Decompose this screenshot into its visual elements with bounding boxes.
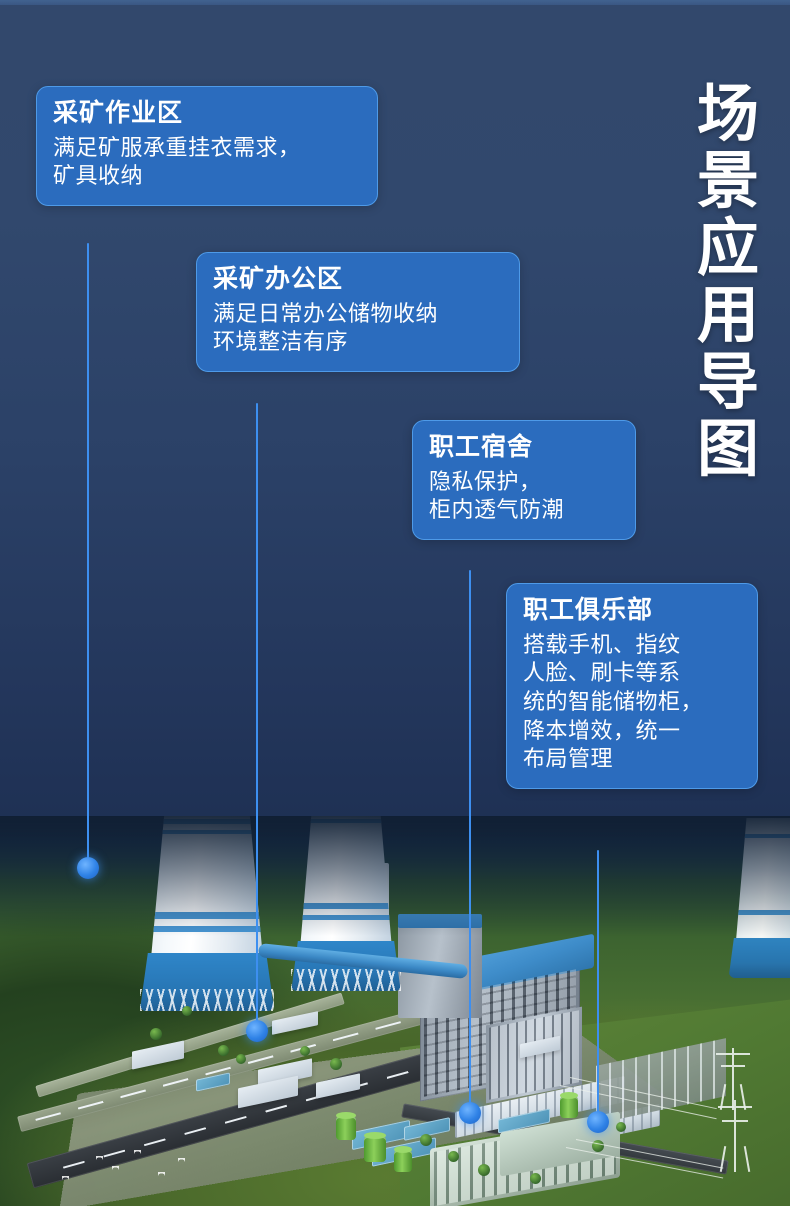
cooling-tower-3	[734, 818, 790, 978]
bird	[134, 1150, 141, 1154]
top-accent-strip	[0, 0, 790, 5]
transmission-pylon-2	[718, 1048, 748, 1110]
info-card-staff-club[interactable]: 职工俱乐部 搭载手机、指纹 人脸、刷卡等系 统的智能储物柜， 降本增效，统一 布…	[506, 583, 758, 789]
card-body: 隐私保护， 柜内透气防潮	[429, 468, 619, 525]
connector-line-staff-dormitory	[469, 570, 471, 1113]
connector-dot-staff-dormitory	[459, 1102, 481, 1124]
connector-dot-mining-office-area	[246, 1020, 268, 1042]
card-title: 职工俱乐部	[523, 596, 741, 625]
tree	[478, 1164, 490, 1176]
storage-tank-3	[394, 1150, 412, 1172]
page-title-char: 用	[690, 283, 768, 350]
tree	[420, 1134, 432, 1146]
bird	[158, 1172, 165, 1176]
page-title-char: 应	[690, 216, 768, 283]
connector-dot-mining-work-area	[77, 857, 99, 879]
transmission-pylon-1	[718, 1100, 752, 1172]
storage-tank-2	[364, 1136, 386, 1162]
tree	[182, 1006, 192, 1016]
connector-line-mining-work-area	[87, 243, 89, 868]
tree	[218, 1045, 229, 1056]
bird	[112, 1166, 119, 1170]
connector-line-staff-club	[597, 850, 599, 1122]
page-title-vertical: 场 景 应 用 导 图	[690, 82, 768, 484]
info-card-mining-work-area[interactable]: 采矿作业区 满足矿服承重挂衣需求， 矿具收纳	[36, 86, 378, 206]
power-plant-scene	[0, 816, 790, 1206]
connector-dot-staff-club	[587, 1111, 609, 1133]
page-title-char: 场	[690, 82, 768, 149]
cooling-tower-1	[148, 816, 266, 1011]
cooling-tower-3-base	[729, 938, 790, 978]
cooling-tower-2-legs	[291, 969, 400, 991]
card-title: 采矿办公区	[213, 265, 503, 294]
bird	[96, 1156, 103, 1160]
card-body: 搭载手机、指纹 人脸、刷卡等系 统的智能储物柜， 降本增效，统一 布局管理	[523, 631, 741, 774]
connector-line-mining-office-area	[256, 403, 258, 1031]
tree	[236, 1054, 246, 1064]
tree	[150, 1028, 162, 1040]
bird	[178, 1158, 185, 1162]
poster-canvas: 采矿作业区 满足矿服承重挂衣需求， 矿具收纳 采矿办公区 满足日常办公储物收纳 …	[0, 0, 790, 1206]
info-card-staff-dormitory[interactable]: 职工宿舍 隐私保护， 柜内透气防潮	[412, 420, 636, 540]
bird	[62, 1176, 69, 1180]
storage-tank-4	[560, 1096, 578, 1118]
card-body: 满足日常办公储物收纳 环境整洁有序	[213, 300, 503, 357]
cooling-tower-1-legs	[140, 989, 275, 1011]
page-title-char: 景	[690, 149, 768, 216]
info-card-mining-office-area[interactable]: 采矿办公区 满足日常办公储物收纳 环境整洁有序	[196, 252, 520, 372]
page-title-char: 图	[690, 417, 768, 484]
page-title-char: 导	[690, 350, 768, 417]
tree	[616, 1122, 626, 1132]
tree	[448, 1151, 459, 1162]
card-title: 采矿作业区	[53, 99, 361, 128]
storage-tank-1	[336, 1116, 356, 1140]
card-title: 职工宿舍	[429, 433, 619, 462]
tree	[530, 1173, 541, 1184]
card-body: 满足矿服承重挂衣需求， 矿具收纳	[53, 134, 361, 191]
tree	[330, 1058, 342, 1070]
tree	[300, 1046, 310, 1056]
